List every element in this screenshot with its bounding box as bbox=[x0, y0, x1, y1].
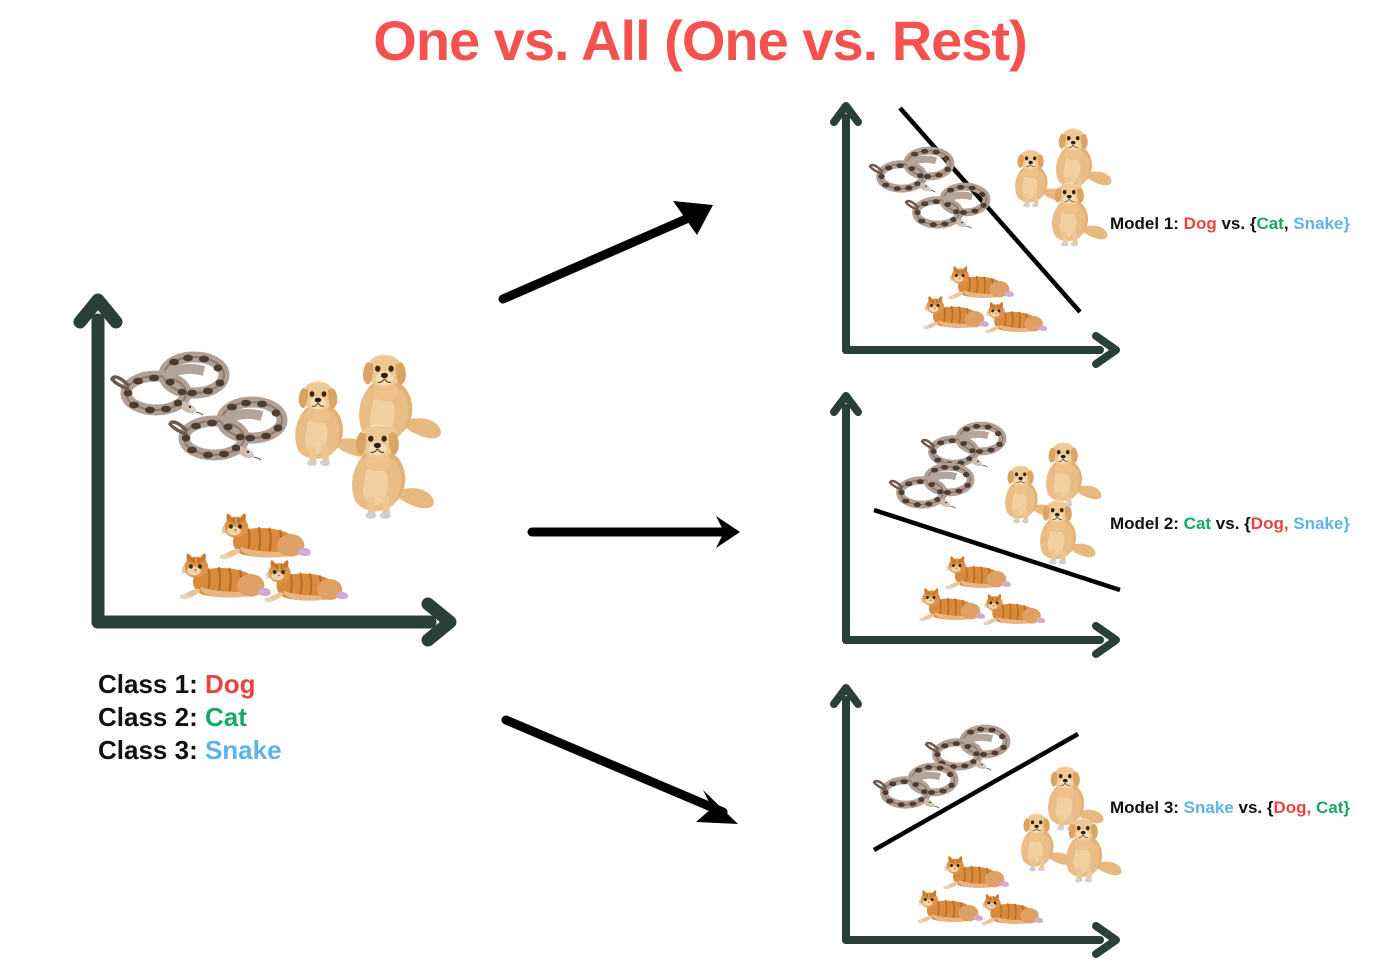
model-2-close-brace: } bbox=[1343, 514, 1350, 533]
model-2-rest-class-2: Snake bbox=[1293, 514, 1343, 533]
legend-row-class-1: Class 1: Dog bbox=[98, 668, 282, 701]
model-3-rest-class-2: Cat bbox=[1316, 798, 1343, 817]
legend-prefix: Class 3: bbox=[98, 735, 205, 765]
model-3-positive-class: Snake bbox=[1184, 798, 1234, 817]
model-1-rest-class-1: Cat bbox=[1256, 214, 1283, 233]
plot-model-1 bbox=[832, 100, 1142, 365]
decision-boundary-model-3 bbox=[874, 734, 1078, 850]
page-title: One vs. All (One vs. Rest) bbox=[0, 8, 1400, 73]
decision-boundary-model-2 bbox=[874, 510, 1120, 590]
model-1-vs: vs. bbox=[1217, 214, 1250, 233]
model-1-close-brace: } bbox=[1343, 214, 1350, 233]
class-legend: Class 1: Dog Class 2: Cat Class 3: Snake bbox=[98, 668, 282, 767]
model-2-positive-class: Cat bbox=[1184, 514, 1211, 533]
plot-model-2 bbox=[832, 392, 1142, 654]
model-2-rest-class-1: Dog bbox=[1251, 514, 1284, 533]
model-3-caption: Model 3: Snake vs. {Dog, Cat} bbox=[1110, 798, 1350, 818]
model-1-rest-class-2: Snake bbox=[1293, 214, 1343, 233]
flow-arrow-to-model-2 bbox=[528, 510, 758, 560]
legend-class-name-dog: Dog bbox=[205, 669, 256, 699]
model-3-rest-class-1: Dog bbox=[1273, 798, 1306, 817]
model-2-vs: vs. bbox=[1211, 514, 1244, 533]
model-1-positive-class: Dog bbox=[1184, 214, 1217, 233]
legend-class-name-snake: Snake bbox=[205, 735, 282, 765]
flow-arrow-to-model-1 bbox=[495, 185, 735, 315]
model-2-prefix: Model 2: bbox=[1110, 514, 1184, 533]
legend-row-class-2: Class 2: Cat bbox=[98, 701, 282, 734]
model-1-prefix: Model 1: bbox=[1110, 214, 1184, 233]
model-2-comma: , bbox=[1284, 514, 1293, 533]
legend-prefix: Class 1: bbox=[98, 669, 205, 699]
diagram-canvas: One vs. All (One vs. Rest) bbox=[0, 0, 1400, 980]
model-3-comma: , bbox=[1307, 798, 1316, 817]
legend-row-class-3: Class 3: Snake bbox=[98, 734, 282, 767]
model-3-vs: vs. bbox=[1234, 798, 1267, 817]
legend-class-name-cat: Cat bbox=[205, 702, 247, 732]
flow-arrow-to-model-3 bbox=[498, 712, 758, 837]
model-3-close-brace: } bbox=[1343, 798, 1350, 817]
plot-training-data bbox=[70, 290, 470, 635]
model-2-caption: Model 2: Cat vs. {Dog, Snake} bbox=[1110, 514, 1350, 534]
plot-model-3 bbox=[832, 678, 1142, 956]
decision-boundary-model-1 bbox=[900, 108, 1080, 312]
legend-prefix: Class 2: bbox=[98, 702, 205, 732]
model-1-comma: , bbox=[1284, 214, 1293, 233]
model-2-open-brace: { bbox=[1244, 514, 1251, 533]
model-3-prefix: Model 3: bbox=[1110, 798, 1184, 817]
model-1-caption: Model 1: Dog vs. {Cat, Snake} bbox=[1110, 214, 1350, 234]
